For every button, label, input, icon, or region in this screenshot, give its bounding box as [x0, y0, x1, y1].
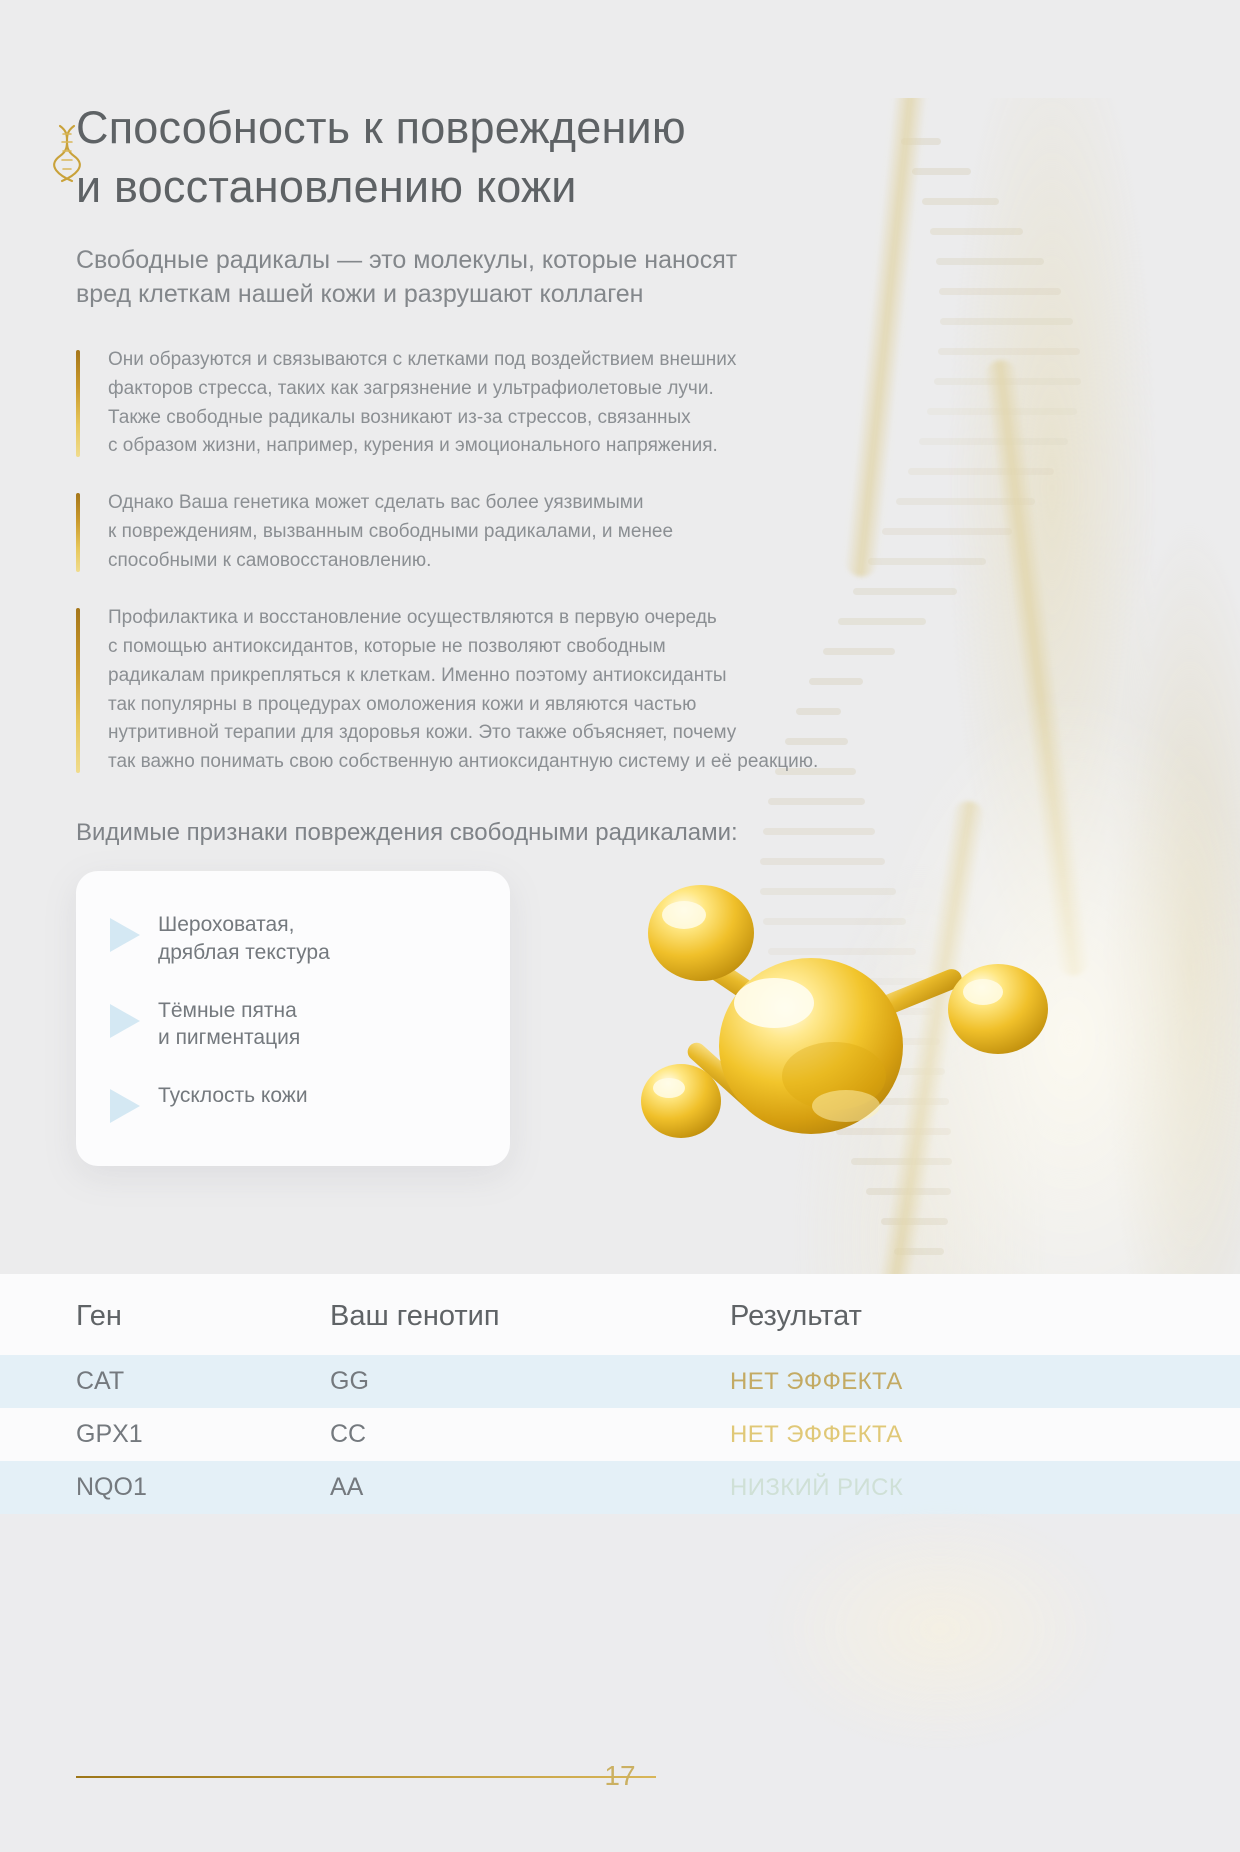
page-number: 17 [604, 1760, 635, 1792]
note-line: с образом жизни, например, курения и эмо… [108, 432, 1164, 461]
triangle-bullet-icon [110, 918, 140, 952]
cell-genotype: GG [330, 1355, 730, 1408]
note-line: с помощью антиоксидантов, которые не поз… [108, 633, 1164, 662]
note-text: Они образуются и связываются с клетками … [108, 346, 1164, 462]
note-item: Профилактика и восстановление осуществля… [76, 604, 1164, 777]
lede-paragraph: Свободные радикалы — это молекулы, котор… [76, 243, 956, 312]
note-line: так популярны в процедурах омоложения ко… [108, 691, 1164, 720]
gold-accent-bar [76, 350, 80, 458]
list-item: Шероховатая, дряблая текстура [110, 911, 476, 966]
sign-text: Тёмные пятна и пигментация [158, 997, 300, 1052]
note-line: нутритивной терапии для здоровья кожи. Э… [108, 719, 1164, 748]
note-line: факторов стресса, таких как загрязнение … [108, 375, 1164, 404]
gold-accent-bar [76, 608, 80, 773]
signs-heading: Видимые признаки повреждения свободными … [76, 819, 1164, 847]
note-line: радикалам прикрепляться к клеткам. Именн… [108, 662, 1164, 691]
list-item: Тусклость кожи [110, 1082, 476, 1123]
cell-genotype: AA [330, 1461, 730, 1514]
note-text: Профилактика и восстановление осуществля… [108, 604, 1164, 777]
cell-genotype: CC [330, 1408, 730, 1461]
gold-molecule-illustration [546, 861, 1106, 1191]
lede-line-1: Свободные радикалы — это молекулы, котор… [76, 243, 956, 278]
table-header-row: Ген Ваш генотип Результат [0, 1274, 1240, 1355]
column-header-result: Результат [730, 1274, 1240, 1355]
sign-line: Тусклость кожи [158, 1082, 308, 1110]
page-title-line-1: Способность к повреждению [76, 98, 1164, 157]
note-line: Они образуются и связываются с клетками … [108, 346, 1164, 375]
sign-line: Тёмные пятна [158, 997, 300, 1025]
note-line: Однако Ваша генетика может сделать вас б… [108, 489, 1164, 518]
note-line: к повреждениям, вызванным свободными рад… [108, 518, 1164, 547]
sign-text: Шероховатая, дряблая текстура [158, 911, 330, 966]
cell-gene: CAT [0, 1355, 330, 1408]
gold-accent-bar [76, 493, 80, 572]
table-row: CAT GG НЕТ ЭФФЕКТА [0, 1355, 1240, 1408]
cell-gene: NQO1 [0, 1461, 330, 1514]
cell-gene: GPX1 [0, 1408, 330, 1461]
note-line: способными к самовосстановлению. [108, 547, 1164, 576]
note-line: так важно понимать свою собственную анти… [108, 748, 1164, 777]
column-header-genotype: Ваш генотип [330, 1274, 730, 1355]
page-title-line-2: и восстановлению кожи [76, 157, 1164, 216]
cell-result: НЕТ ЭФФЕКТА [730, 1355, 1240, 1408]
signs-section: Шероховатая, дряблая текстура Тёмные пят… [76, 871, 1164, 1171]
sign-line: Шероховатая, [158, 911, 330, 939]
triangle-bullet-icon [110, 1004, 140, 1038]
note-item: Они образуются и связываются с клетками … [76, 346, 1164, 462]
page-title: Способность к повреждению и восстановлен… [76, 98, 1164, 217]
cell-result: НЕТ ЭФФЕКТА [730, 1408, 1240, 1461]
page-footer: 17 [0, 1746, 1240, 1806]
sign-line: дряблая текстура [158, 939, 330, 967]
note-text: Однако Ваша генетика может сделать вас б… [108, 489, 1164, 576]
column-header-gene: Ген [0, 1274, 330, 1355]
note-list: Они образуются и связываются с клетками … [76, 346, 1164, 777]
page-content: Способность к повреждению и восстановлен… [0, 98, 1240, 1171]
sign-text: Тусклость кожи [158, 1082, 308, 1110]
triangle-bullet-icon [110, 1089, 140, 1123]
note-line: Профилактика и восстановление осуществля… [108, 604, 1164, 633]
list-item: Тёмные пятна и пигментация [110, 997, 476, 1052]
footer-rule [76, 1776, 656, 1778]
signs-card: Шероховатая, дряблая текстура Тёмные пят… [76, 871, 510, 1166]
table-row: GPX1 CC НЕТ ЭФФЕКТА [0, 1408, 1240, 1461]
note-item: Однако Ваша генетика может сделать вас б… [76, 489, 1164, 576]
note-line: Также свободные радикалы возникают из-за… [108, 404, 1164, 433]
sign-line: и пигментация [158, 1024, 300, 1052]
lede-line-2: вред клеткам нашей кожи и разрушают колл… [76, 277, 956, 312]
